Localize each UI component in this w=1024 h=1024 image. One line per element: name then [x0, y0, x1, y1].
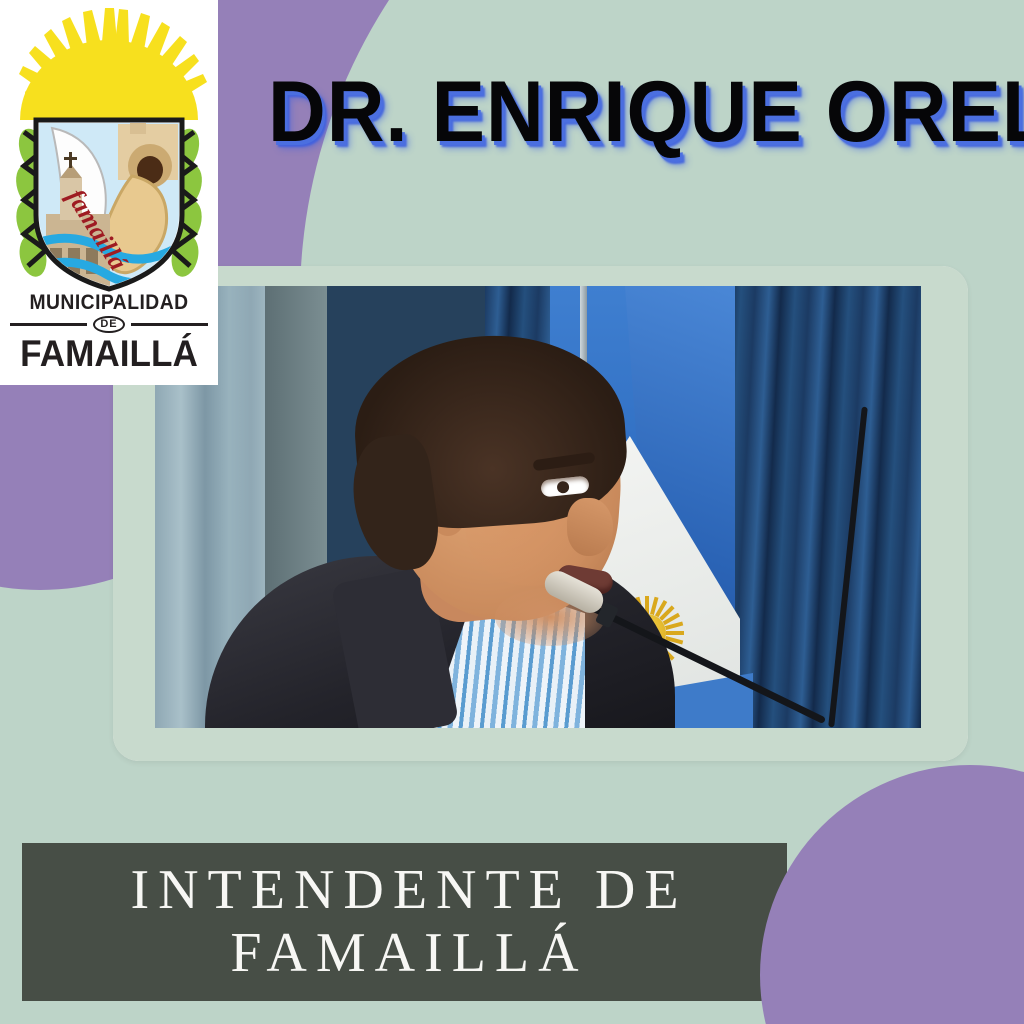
- divider-rule-left: [10, 323, 87, 326]
- role-banner-line-2: FAMAILLÁ: [130, 922, 687, 985]
- nose-icon: [567, 498, 613, 556]
- page-title: DR. ENRIQUE ORELLANA: [268, 56, 956, 168]
- logo-wordmark-middle: DE: [93, 316, 124, 333]
- speaker-figure: [215, 316, 685, 728]
- famailla-crest-icon: famaillá: [0, 0, 218, 300]
- role-banner-text: INTENDENTE DE FAMAILLÁ: [121, 859, 687, 984]
- divider-rule-right: [131, 323, 208, 326]
- role-banner-line-1: INTENDENTE DE: [130, 859, 687, 921]
- speaker-photo: [155, 286, 921, 728]
- role-banner: INTENDENTE DE FAMAILLÁ: [22, 843, 787, 1001]
- logo-wordmark: MUNICIPALIDAD DE FAMAILLÁ: [0, 292, 218, 372]
- logo-wordmark-bottom: FAMAILLÁ: [5, 335, 212, 372]
- municipality-logo-card: famaillá MUNICIPALIDAD DE FAMAILLÁ: [0, 0, 218, 385]
- poster-canvas: INTENDENTE DE FAMAILLÁ DR. ENRIQUE ORELL…: [0, 0, 1024, 1024]
- logo-wordmark-divider: DE: [10, 316, 208, 333]
- logo-wordmark-top: MUNICIPALIDAD: [9, 292, 210, 313]
- crest-graphic: famaillá MUNICIPALIDAD DE FAMAILLÁ: [0, 0, 218, 385]
